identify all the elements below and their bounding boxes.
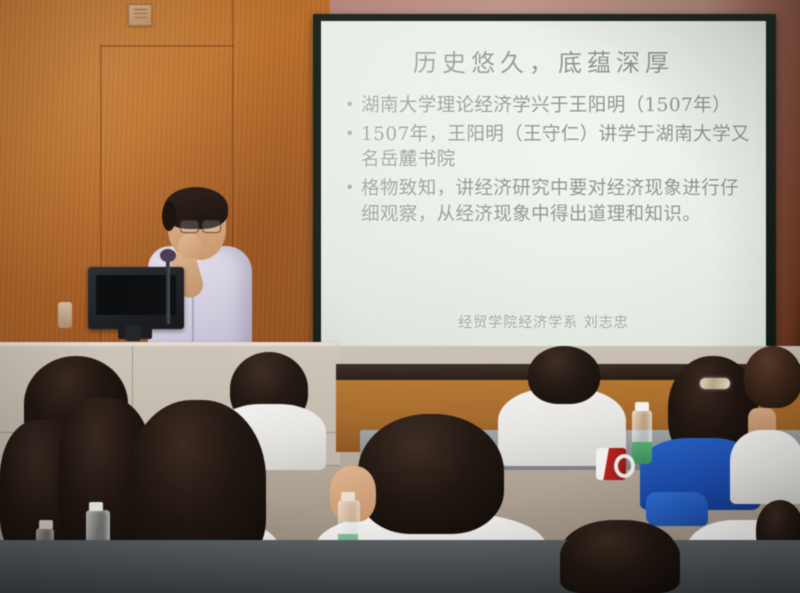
monitor-stand (125, 325, 141, 341)
slide-bullet-text: 湖南大学理论经济学兴于王阳明（1507年） (361, 93, 750, 118)
bullet-marker-icon: • (345, 122, 361, 172)
gooseneck-microphone (166, 258, 170, 324)
blue-bag (646, 492, 708, 526)
slide-bullet-text: 1507年，王阳明（王守仁）讲学于湖南大学又名岳麓书院 (361, 122, 750, 172)
lecture-hall-photo: 历史悠久，底蕴深厚 • 湖南大学理论经济学兴于王阳明（1507年） • 1507… (0, 0, 800, 593)
slide-bullet-item: • 格物致知，讲经济研究中要对经济现象进行仔细观察，从经济现象中得出道理和知识。 (345, 176, 750, 226)
presentation-slide: 历史悠久，底蕴深厚 • 湖南大学理论经济学兴于王阳明（1507年） • 1507… (321, 21, 766, 356)
list-item (744, 346, 800, 408)
projector-screen: 历史悠久，底蕴深厚 • 湖南大学理论经济学兴于王阳明（1507年） • 1507… (321, 21, 766, 356)
slide-bullet-list: • 湖南大学理论经济学兴于王阳明（1507年） • 1507年，王阳明（王守仁）… (345, 93, 750, 231)
hair-clip (700, 378, 730, 389)
water-bottle (632, 410, 652, 464)
slide-bullet-text: 格物致知，讲经济研究中要对经济现象进行仔细观察，从经济现象中得出道理和知识。 (361, 176, 750, 226)
list-item (358, 414, 504, 534)
wall-seam (100, 45, 234, 47)
glass-tumbler (58, 302, 72, 328)
slide-bullet-item: • 1507年，王阳明（王守仁）讲学于湖南大学又名岳麓书院 (345, 122, 750, 172)
slide-title: 历史悠久，底蕴深厚 (321, 43, 766, 78)
wall-plaque-sign (128, 4, 152, 26)
bullet-marker-icon: • (345, 93, 361, 118)
list-item (560, 524, 680, 593)
red-mug (596, 448, 626, 480)
presenter-hand (178, 234, 202, 258)
eyeglasses-icon (180, 220, 226, 232)
projector-screen-frame: 历史悠久，底蕴深厚 • 湖南大学理论经济学兴于王阳明（1507年） • 1507… (313, 14, 776, 362)
slide-bullet-item: • 湖南大学理论经济学兴于王阳明（1507年） (345, 93, 750, 118)
slide-footer-credit: 经贸学院经济学系 刘志忠 (321, 312, 766, 332)
bullet-marker-icon: • (345, 176, 361, 226)
front-desk-edge (0, 540, 800, 593)
attendee-torso (730, 430, 800, 504)
